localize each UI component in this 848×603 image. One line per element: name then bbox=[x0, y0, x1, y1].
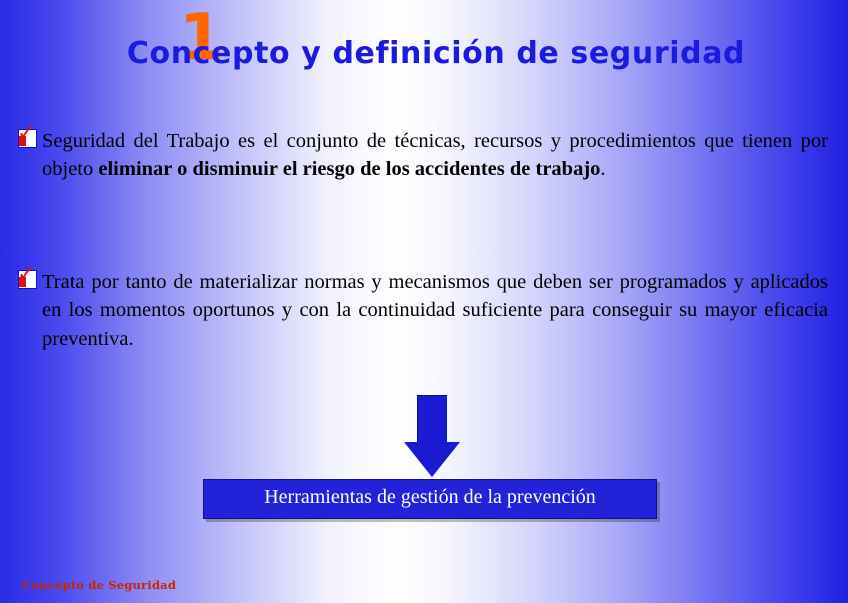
checkbox-checked-icon: ✓ bbox=[18, 270, 37, 289]
bullet-text-tail: . bbox=[600, 158, 605, 180]
bullet-item: ✓ Seguridad del Trabajo es el conjunto d… bbox=[22, 127, 828, 184]
bullet-text-lead: Trata por tanto de materializar normas y… bbox=[42, 271, 828, 350]
down-arrow-icon bbox=[404, 395, 460, 477]
bullet-item: ✓ Trata por tanto de materializar normas… bbox=[22, 268, 828, 353]
result-box: Herramientas de gestión de la prevención bbox=[203, 479, 657, 519]
footer-text: Concepto de Seguridad bbox=[22, 578, 176, 592]
bullet-text-bold: eliminar o disminuir el riesgo de los ac… bbox=[98, 158, 600, 180]
checkbox-checked-icon: ✓ bbox=[18, 129, 37, 148]
result-box-label: Herramientas de gestión de la prevención bbox=[204, 486, 656, 509]
slide-canvas: 1 Concepto y definición de seguridad ✓ S… bbox=[0, 0, 848, 603]
page-title: Concepto y definición de seguridad bbox=[0, 36, 848, 71]
